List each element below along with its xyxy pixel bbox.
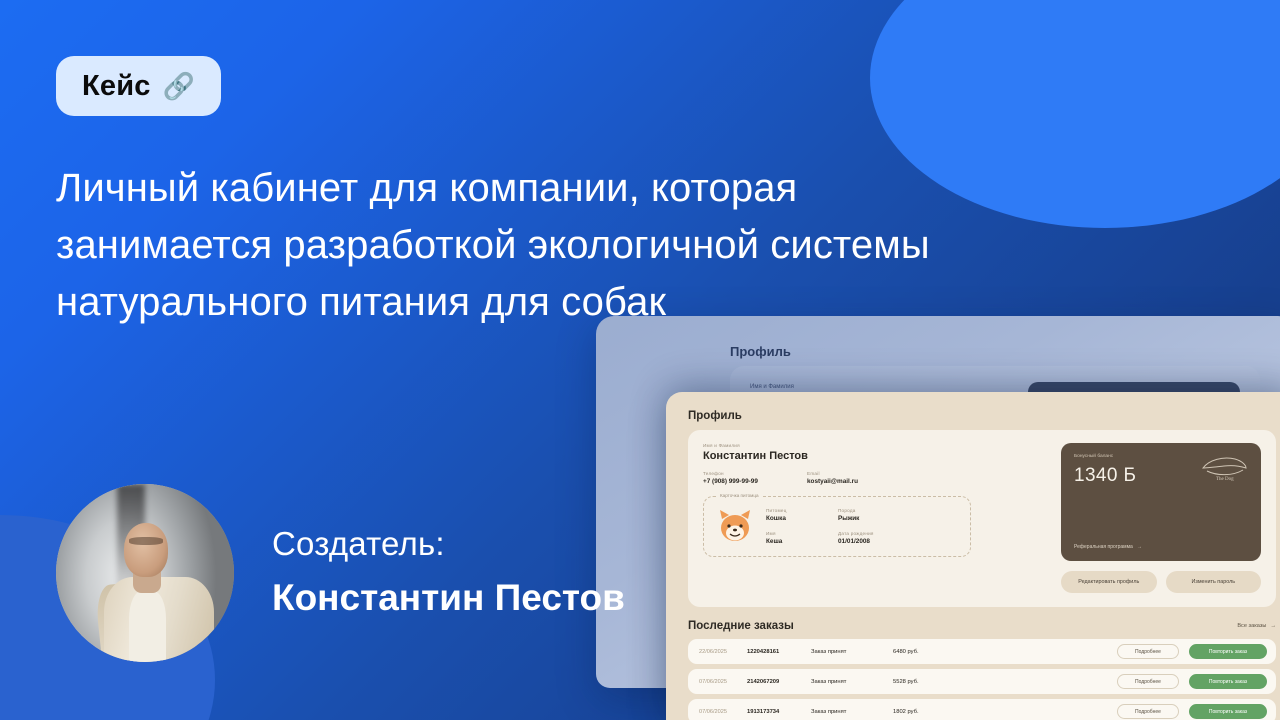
all-orders-link-label: Все заказы <box>1237 623 1266 629</box>
case-badge: Кейс 🔗 <box>56 56 221 116</box>
edit-profile-button[interactable]: Редактировать профиль <box>1061 571 1157 593</box>
repeat-order-button[interactable]: Повторить заказ <box>1189 674 1267 689</box>
left-content-column: Кейс 🔗 Личный кабинет для компании, кото… <box>56 0 986 720</box>
page-headline: Личный кабинет для компании, которая зан… <box>56 160 976 330</box>
referral-program-label: Реферальная программа <box>1074 544 1133 550</box>
arrow-right-icon: → <box>1270 623 1276 629</box>
order-details-button[interactable]: Подробнее <box>1117 704 1179 719</box>
order-details-button[interactable]: Подробнее <box>1117 674 1179 689</box>
creator-name: Константин Пестов <box>272 575 625 621</box>
repeat-order-button[interactable]: Повторить заказ <box>1189 644 1267 659</box>
repeat-order-button[interactable]: Повторить заказ <box>1189 704 1267 719</box>
referral-program-link[interactable]: Реферальная программа → <box>1074 544 1142 550</box>
arrow-right-icon: → <box>1137 544 1142 550</box>
change-password-button[interactable]: Изменить пароль <box>1166 571 1262 593</box>
bonus-panel: Бонусный баланс 1340 Б Реферальная прогр… <box>1061 443 1261 593</box>
creator-block: Создатель: Константин Пестов <box>56 484 625 662</box>
order-details-button[interactable]: Подробнее <box>1117 644 1179 659</box>
creator-role-label: Создатель: <box>272 525 625 563</box>
dog-logo-icon: The Dog <box>1198 453 1250 483</box>
case-badge-label: Кейс <box>82 70 151 103</box>
avatar <box>56 484 234 662</box>
bonus-card: Бонусный баланс 1340 Б Реферальная прогр… <box>1061 443 1261 561</box>
link-chain-icon: 🔗 <box>163 73 195 99</box>
all-orders-link[interactable]: Все заказы → <box>1237 623 1276 629</box>
svg-text:The Dog: The Dog <box>1216 477 1234 482</box>
